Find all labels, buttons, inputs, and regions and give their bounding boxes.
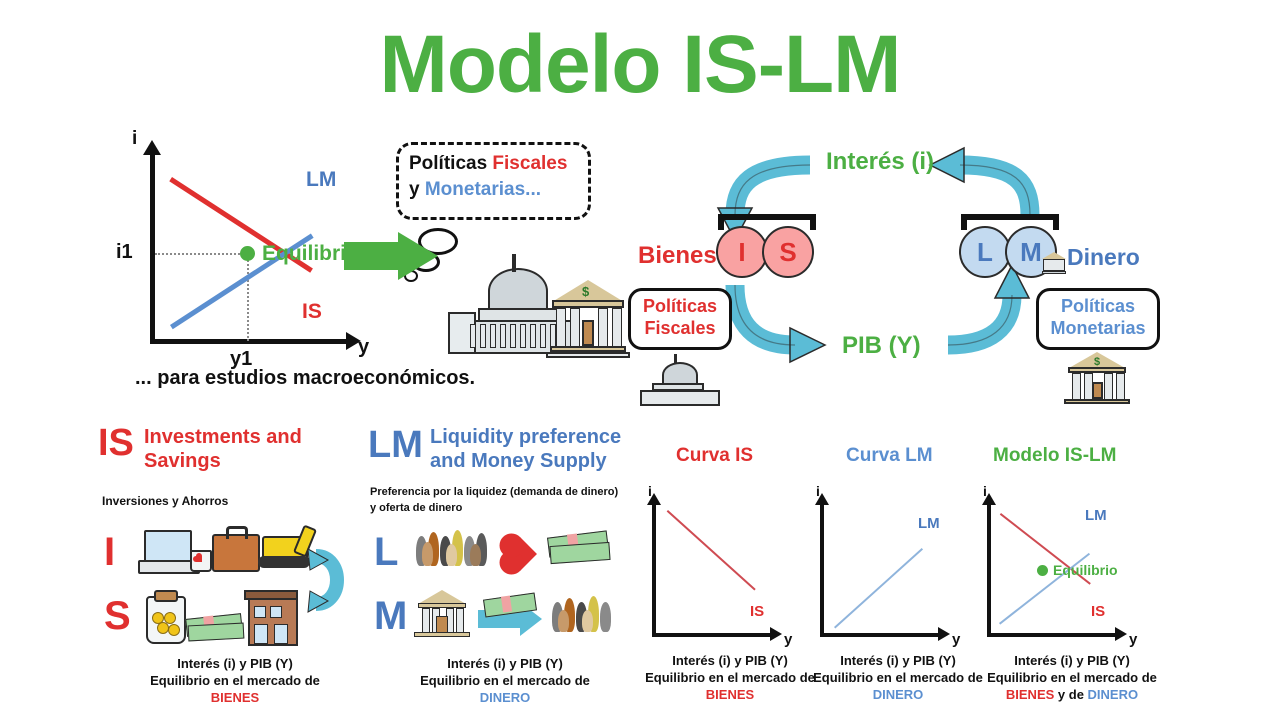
cycle-circle-s: S [762,226,814,278]
mini-lm-y-axis [820,503,824,635]
islm-cycle-diagram: Interés (i) PIB (Y) Bienes Dinero I S L … [630,140,1230,420]
small-bank-icon [1042,252,1066,274]
mini-islm-caption-line-3: BIENES y de DINERO [977,687,1167,704]
lm-curve-label: LM [306,168,336,192]
mini-lm-caption: Interés (i) y PIB (Y) Equilibrio en el m… [808,653,988,704]
fiscal-policy-callout: Políticas Fiscales [628,288,732,350]
mini-islm-x-arrow-icon [1115,627,1127,641]
lm-caption: Interés (i) y PIB (Y) Equilibrio en el m… [390,656,620,707]
is-caption: Interés (i) y PIB (Y) Equilibrio en el m… [120,656,350,707]
y-axis-arrow-icon [143,140,161,155]
mini-is-y-arrow-icon [647,493,661,505]
lm-letter-m: M [374,596,407,636]
page-subtitle: ... para estudios macroeconómicos. [135,367,475,390]
lm-subtitle-line-2: y oferta de dinero [370,502,462,516]
equilibrium-guide-vertical [247,253,249,341]
mini-lm-x-axis [820,633,942,637]
lm-subtitle-line-1: Preferencia por la liquidez (demanda de … [370,486,618,500]
monetary-bank-icon: $ [1064,352,1138,408]
lm-caption-line-1: Interés (i) y PIB (Y) [390,656,620,673]
thought-bubble: Políticas Fiscales y Monetarias... [396,142,591,220]
mini-islm-x-label: y [1129,631,1137,648]
mini-lm-y-arrow-icon [815,493,829,505]
fiscal-capitol-icon [638,352,734,406]
mini-islm-y-axis [987,503,991,635]
mini-lm-curve [834,548,923,628]
fiscal-callout-line-2: Fiscales [640,318,720,340]
mini-is-curve-label: IS [750,603,764,620]
i1-tick-label: i1 [116,241,133,264]
mini-islm-y-arrow-icon [982,493,996,505]
mini-lm-x-label: y [952,631,960,648]
is-caption-line-1: Interés (i) y PIB (Y) [120,656,350,673]
equilibrium-point [240,246,255,261]
mini-islm-caption: Interés (i) y PIB (Y) Equilibrio en el m… [977,653,1167,704]
is-title-line-1: Investments and [144,426,302,448]
mini-chart-islm-title: Modelo IS-LM [993,445,1116,467]
mini-islm-x-axis [987,633,1119,637]
mini-islm-caption-line-2: Equilibrio en el mercado de [977,670,1167,687]
cycle-goods-market-label: Bienes [638,242,717,270]
mini-is-curve [667,510,756,590]
monetary-callout-line-1: Políticas [1048,296,1148,318]
is-title-line-2: Savings [144,450,221,472]
bubble-line-2: y Monetarias... [409,177,578,203]
is-curve-label: IS [302,300,322,324]
monetary-policy-callout: Políticas Monetarias [1036,288,1160,350]
bubble-line-1: Políticas Fiscales [409,151,578,177]
money-supply-illustration [412,586,627,644]
liquidity-preference-illustration [412,520,622,578]
is-letter-i: I [104,532,115,572]
equilibrium-guide-horizontal [155,253,247,255]
mini-chart-curva-is: Curva IS i y IS Interés (i) y PIB (Y) Eq… [650,445,830,705]
mini-islm-lm-label: LM [1085,507,1107,524]
page-title: Modelo IS-LM [0,24,1280,106]
monetary-callout-line-2: Monetarias [1048,318,1148,340]
mini-is-caption: Interés (i) y PIB (Y) Equilibrio en el m… [640,653,820,704]
mini-is-x-arrow-icon [770,627,782,641]
is-letter-s: S [104,596,131,636]
mini-lm-x-arrow-icon [938,627,950,641]
lm-title-line-1: Liquidity preference [430,426,621,448]
lm-initials: LM [368,426,423,464]
is-subtitle: Inversiones y Ahorros [102,494,228,509]
mini-is-x-label: y [784,631,792,648]
mini-islm-equilibrium-point [1037,565,1048,576]
mini-is-caption-line-3: BIENES [640,687,820,704]
mini-is-caption-line-2: Equilibrio en el mercado de [640,670,820,687]
cycle-gdp-label: PIB (Y) [842,332,921,360]
is-initials: IS [98,424,134,462]
green-arrow-icon [344,232,438,280]
cycle-circle-l: L [959,226,1011,278]
cycle-interest-label: Interés (i) [826,148,934,176]
fiscal-callout-line-1: Políticas [640,296,720,318]
mini-lm-caption-line-1: Interés (i) y PIB (Y) [808,653,988,670]
mini-lm-caption-line-2: Equilibrio en el mercado de [808,670,988,687]
mini-chart-modelo-islm: Modelo IS-LM i y LM IS Equilibrio Interé… [985,445,1175,705]
cycle-money-market-label: Dinero [1067,244,1140,271]
is-caption-line-3: BIENES [120,690,350,707]
y-axis-label: i [132,128,137,150]
mini-lm-caption-line-3: DINERO [808,687,988,704]
lm-caption-line-3: DINERO [390,690,620,707]
is-caption-line-2: Equilibrio en el mercado de [120,673,350,690]
y-axis [150,154,155,344]
mini-islm-is-label: IS [1091,603,1105,620]
lm-letter-l: L [374,532,398,572]
government-buildings-illustration: $ [448,250,623,370]
mini-is-caption-line-1: Interés (i) y PIB (Y) [640,653,820,670]
lm-caption-line-2: Equilibrio en el mercado de [390,673,620,690]
cycle-circle-i: I [716,226,768,278]
mini-chart-curva-lm: Curva LM i y LM Interés (i) y PIB (Y) Eq… [818,445,998,705]
main-islm-chart: i y LM IS Equilibrio i1 y1 [110,140,370,370]
lm-title-line-2: and Money Supply [430,450,607,472]
mini-islm-caption-line-1: Interés (i) y PIB (Y) [977,653,1167,670]
mini-islm-equilibrium-label: Equilibrio [1053,562,1118,578]
x-axis [150,339,350,344]
mini-chart-is-title: Curva IS [676,445,753,467]
is-cycle-arrow-icon [298,544,358,624]
mini-lm-curve-label: LM [918,515,940,532]
x-axis-label: y [358,336,369,359]
lm-definition-block: LM Liquidity preference and Money Supply… [368,424,648,704]
is-definition-block: IS Investments and Savings Inversiones y… [98,424,368,704]
mini-is-y-axis [652,503,656,635]
mini-is-x-axis [652,633,774,637]
mini-chart-lm-title: Curva LM [846,445,933,467]
